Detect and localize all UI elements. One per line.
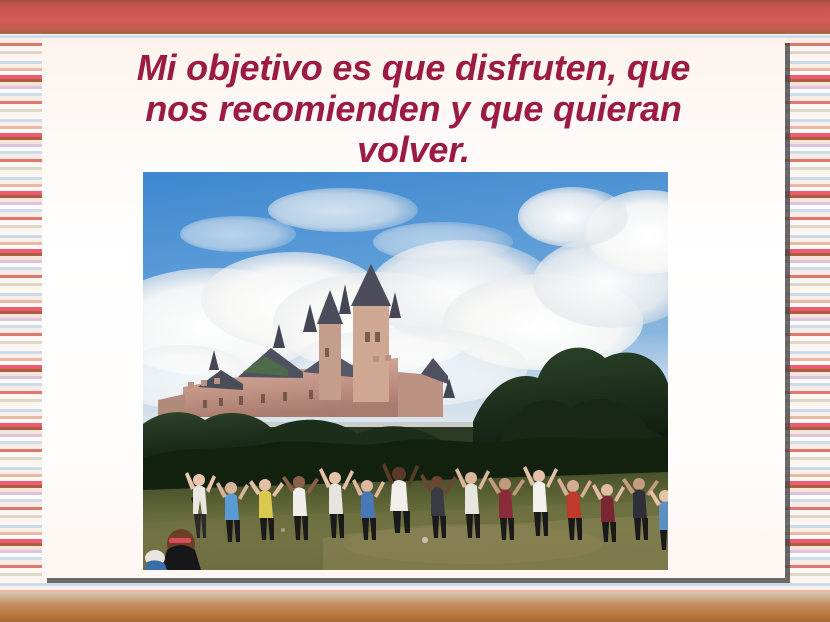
bottom-border-band [0,592,830,622]
slide-title: Mi objetivo es que disfruten, que nos re… [42,47,785,170]
slide-content-panel: Mi objetivo es que disfruten, que nos re… [42,38,785,578]
photo-illustration [143,172,668,570]
top-border-band [0,0,830,34]
slide-photo [143,172,668,570]
slide-root: Mi objetivo es que disfruten, que nos re… [0,0,830,622]
